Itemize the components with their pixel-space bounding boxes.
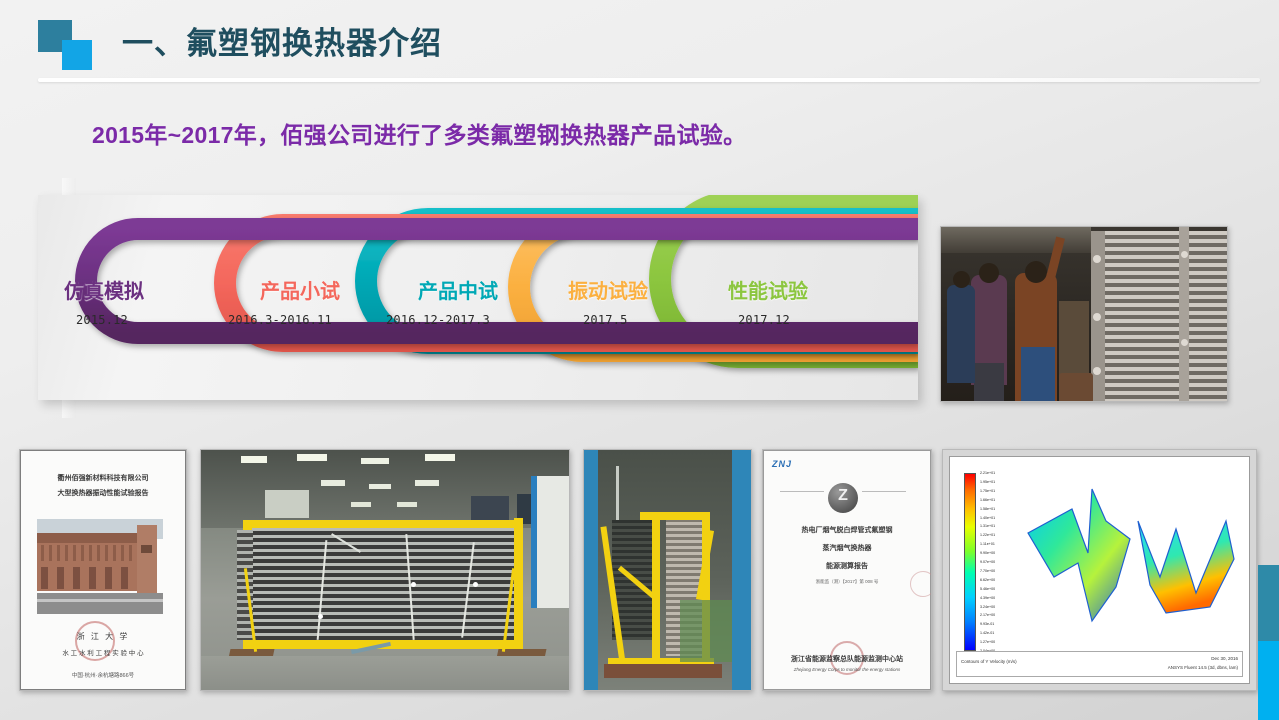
logo-square-light-icon (62, 40, 92, 70)
cfd-legend-value: 1.11e+01 (980, 542, 995, 546)
cfd-legend-labels: 2.21e+011.95e+011.75e+011.66e+011.58e+01… (980, 471, 1024, 653)
report-brand: ZNJ (772, 459, 792, 469)
report-center-line: 水 工 水 利 工 程 实 验 中 心 (21, 647, 185, 657)
slide-canvas: 一、氟塑钢换热器介绍 2015年~2017年，佰强公司进行了多类氟塑钢换热器产品… (0, 0, 1279, 720)
slide-header: 一、氟塑钢换热器介绍 (0, 0, 1279, 92)
cfd-legend-value: 1.75e+01 (980, 489, 995, 493)
report-emblem-letter: Z (828, 487, 858, 505)
cfd-surfaces (1020, 481, 1250, 651)
energy-footer-cn: 浙江省能源监察总队能源监测中心站 (764, 654, 930, 664)
page-title: 一、氟塑钢换热器介绍 (122, 18, 442, 63)
cfd-legend-value: 7.70e+00 (980, 569, 995, 573)
process-flow-diagram: 仿真模拟 2015.12 产品小试 2016.3-2016.11 产品中试 20… (38, 195, 918, 400)
cfd-legend-value: 9.07e+00 (980, 560, 995, 564)
cfd-legend-value: 1.31e+01 (980, 524, 995, 528)
photo-cfd-contour: 2.21e+011.95e+011.75e+011.66e+011.58e+01… (942, 449, 1257, 691)
report-address-line: 中国·杭州·余杭塘路866号 (21, 671, 185, 679)
cfd-legend-value: 1.22e+01 (980, 533, 995, 537)
energy-title-line3: 能源测算报告 (764, 561, 930, 571)
accent-block-teal (1258, 565, 1279, 641)
cfd-caption-left: Contours of Y Velocity (m/s) (961, 659, 1017, 664)
energy-doc-no: 浙能监（测）【2017】第 008 号 (764, 579, 930, 585)
stage-date-1: 2016.3-2016.11 (228, 313, 332, 327)
energy-title-line1: 热电厂烟气脱白焊管式氟塑钢 (764, 525, 930, 535)
energy-title-line2: 蒸汽烟气换热器 (764, 543, 930, 553)
report-org-line: 浙 江 大 学 (21, 631, 185, 642)
stage-date-2: 2016.12-2017.3 (386, 313, 490, 327)
cfd-legend-value: 9.90e+00 (980, 551, 995, 555)
cfd-legend-value: 1.58e+01 (980, 507, 995, 511)
stage-label-4: 性能试验 (728, 275, 808, 304)
cfd-legend-value: 9.93e-01 (980, 622, 994, 626)
report-company-line: 衢州佰强新材料科技有限公司 (21, 473, 185, 483)
energy-footer-en: Zhejiang Energy Corps to monitor the ene… (764, 667, 930, 672)
photo-chamber-rig (583, 449, 752, 691)
photo-energy-report: ZNJ Z 热电厂烟气脱白焊管式氟塑钢 蒸汽烟气换热器 能源测算报告 浙能监（测… (762, 449, 932, 691)
stage-label-3: 振动试验 (568, 275, 648, 304)
cfd-legend-value: 1.40e+01 (980, 516, 995, 520)
stage-label-0: 仿真模拟 (64, 275, 144, 304)
cfd-caption-right-1: Dec 30, 2016 (1211, 656, 1238, 661)
cfd-legend-value: 1.27e+00 (980, 640, 995, 644)
cfd-legend-value: 2.17e+00 (980, 613, 995, 617)
title-divider (38, 78, 1260, 82)
cfd-legend-value: 1.66e+01 (980, 498, 995, 502)
report-title-line: 大型换热器振动性能试验报告 (21, 488, 185, 498)
cfd-legend-value: 1.95e+01 (980, 480, 995, 484)
cfd-plot-page: 2.21e+011.95e+011.75e+011.66e+011.58e+01… (949, 456, 1250, 684)
photo-inspection (940, 226, 1228, 402)
accent-block-blue (1258, 641, 1279, 720)
cfd-legend-value: 3.24e+00 (980, 605, 995, 609)
cfd-caption-right-2: ANSYS Fluent 14.5 (3d, dbns, lam) (1168, 665, 1238, 670)
subtitle-text: 2015年~2017年，佰强公司进行了多类氟塑钢换热器产品试验。 (92, 116, 746, 150)
photo-vibration-report: 衢州佰强新材料科技有限公司 大型换热器振动性能试验报告 浙 江 大 学 水 工 … (19, 449, 187, 691)
stage-date-4: 2017.12 (738, 313, 790, 327)
stage-date-0: 2015.12 (76, 313, 128, 327)
energy-report-page: ZNJ Z 热电厂烟气脱白焊管式氟塑钢 蒸汽烟气换热器 能源测算报告 浙能监（测… (763, 450, 931, 690)
report-cover-page: 衢州佰强新材料科技有限公司 大型换热器振动性能试验报告 浙 江 大 学 水 工 … (20, 450, 186, 690)
cfd-legend-value: 6.62e+00 (980, 578, 995, 582)
stage-date-3: 2017.5 (583, 313, 628, 327)
cfd-caption-box: Contours of Y Velocity (m/s) Dec 30, 201… (956, 651, 1243, 677)
cfd-legend-value: 5.46e+00 (980, 587, 995, 591)
stage-label-2: 产品中试 (418, 275, 498, 304)
photo-lab-rig (200, 449, 570, 691)
stage-label-1: 产品小试 (260, 275, 340, 304)
cfd-legend-value: 2.21e+01 (980, 471, 995, 475)
cfd-colorbar (964, 473, 976, 651)
cfd-legend-value: 4.39e+00 (980, 596, 995, 600)
cfd-legend-value: 1.42e-01 (980, 631, 994, 635)
